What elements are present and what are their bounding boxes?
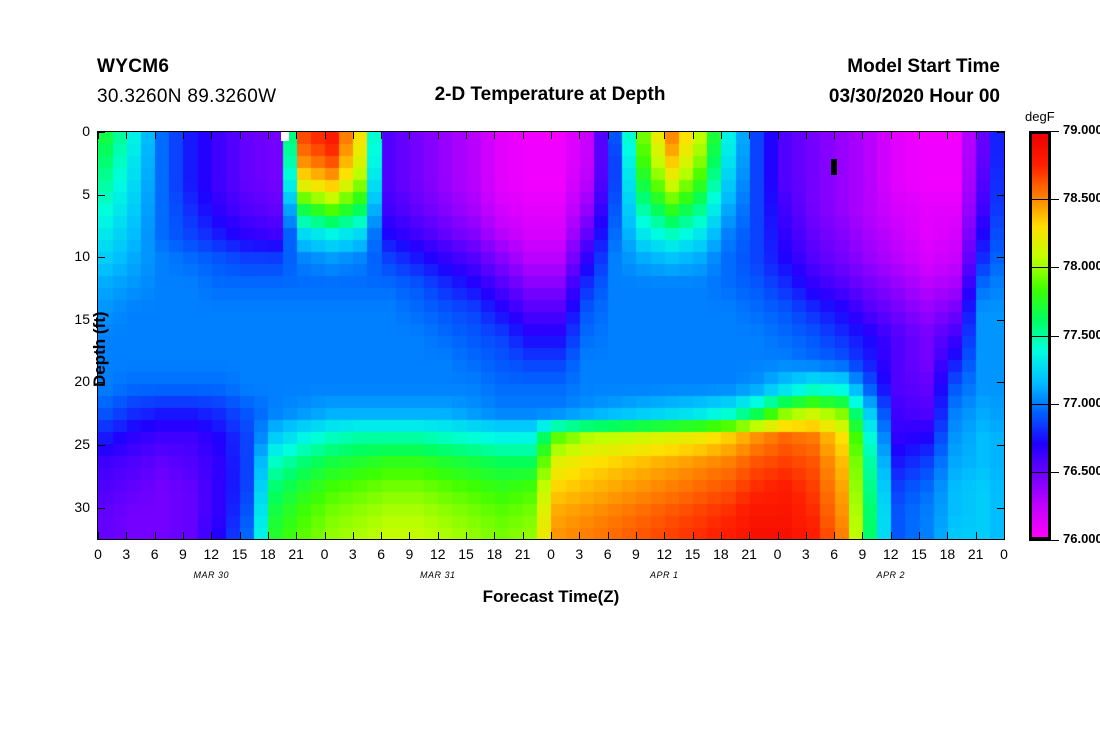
x-tick <box>919 132 920 139</box>
x-tick <box>721 532 722 539</box>
x-tick <box>976 532 977 539</box>
x-tick-label: 18 <box>706 546 736 562</box>
colorbar-tick-label: 79.000 <box>1063 122 1100 137</box>
colorbar-divider <box>1029 540 1051 541</box>
x-tick <box>296 532 297 539</box>
x-tick <box>862 132 863 139</box>
x-tick-label: 15 <box>451 546 481 562</box>
x-tick-label: 12 <box>423 546 453 562</box>
y-tick <box>997 508 1004 509</box>
colorbar-divider <box>1029 199 1051 200</box>
colorbar-divider <box>1029 336 1051 337</box>
x-tick <box>183 532 184 539</box>
y-tick <box>997 382 1004 383</box>
x-tick <box>98 132 99 139</box>
x-tick <box>353 532 354 539</box>
x-tick-label: 18 <box>479 546 509 562</box>
x-tick <box>155 132 156 139</box>
y-axis-title: Depth (ft) <box>90 311 110 387</box>
x-tick <box>862 532 863 539</box>
x-tick <box>778 532 779 539</box>
x-tick-label: 9 <box>847 546 877 562</box>
x-tick <box>211 132 212 139</box>
x-tick <box>211 532 212 539</box>
white-marker-icon <box>281 132 289 141</box>
x-tick <box>579 532 580 539</box>
x-tick-label: 21 <box>961 546 991 562</box>
x-tick <box>325 532 326 539</box>
y-tick <box>997 132 1004 133</box>
colorbar-tick-label: 78.000 <box>1063 258 1100 273</box>
x-tick <box>778 132 779 139</box>
y-tick-label: 5 <box>50 186 90 202</box>
colorbar-divider <box>1029 472 1051 473</box>
x-tick-label: 12 <box>876 546 906 562</box>
y-tick <box>98 508 105 509</box>
x-axis-title: Forecast Time(Z) <box>98 587 1004 607</box>
x-tick <box>438 132 439 139</box>
temperature-depth-heatmap-plot: 0369121518210369121518210369121518210369… <box>97 131 1005 540</box>
y-tick-label: 15 <box>50 311 90 327</box>
x-tick <box>834 132 835 139</box>
x-tick <box>126 132 127 139</box>
x-tick <box>551 132 552 139</box>
y-tick <box>98 132 105 133</box>
x-day-label: MAR 31 <box>398 570 478 580</box>
y-tick-label: 20 <box>50 373 90 389</box>
x-tick <box>608 132 609 139</box>
x-tick <box>608 532 609 539</box>
x-tick <box>1004 132 1005 139</box>
colorbar-tick-label: 76.500 <box>1063 463 1100 478</box>
x-tick <box>806 532 807 539</box>
y-tick-label: 0 <box>50 123 90 139</box>
x-tick <box>183 132 184 139</box>
x-tick <box>579 132 580 139</box>
colorbar-divider <box>1029 267 1051 268</box>
x-tick <box>891 532 892 539</box>
x-tick-label: 12 <box>649 546 679 562</box>
model-start-time-label: Model Start Time <box>847 56 1000 78</box>
colorbar-tick-label: 78.500 <box>1063 190 1100 205</box>
x-tick <box>409 132 410 139</box>
x-tick <box>240 532 241 539</box>
x-tick <box>891 132 892 139</box>
x-tick <box>523 132 524 139</box>
colorbar-tick <box>1051 540 1059 541</box>
x-tick-label: 21 <box>508 546 538 562</box>
colorbar-tick <box>1051 131 1059 132</box>
y-tick <box>997 320 1004 321</box>
x-tick-label: 12 <box>196 546 226 562</box>
model-start-time-value: 03/30/2020 Hour 00 <box>829 86 1000 108</box>
x-tick-label: 3 <box>111 546 141 562</box>
x-tick-label: 6 <box>140 546 170 562</box>
x-tick <box>438 532 439 539</box>
x-tick <box>664 132 665 139</box>
x-tick-label: 0 <box>989 546 1019 562</box>
x-tick-label: 6 <box>593 546 623 562</box>
x-tick <box>98 532 99 539</box>
x-tick-label: 0 <box>310 546 340 562</box>
x-tick <box>976 132 977 139</box>
x-tick <box>466 532 467 539</box>
x-tick-label: 15 <box>904 546 934 562</box>
x-tick <box>806 132 807 139</box>
y-tick <box>98 445 105 446</box>
y-tick <box>997 195 1004 196</box>
x-tick-label: 21 <box>734 546 764 562</box>
x-tick-label: 0 <box>536 546 566 562</box>
x-tick <box>494 532 495 539</box>
colorbar-tick-label: 76.000 <box>1063 531 1100 546</box>
x-tick <box>268 132 269 139</box>
colorbar-tick <box>1051 404 1059 405</box>
x-tick-label: 21 <box>281 546 311 562</box>
x-tick <box>551 532 552 539</box>
x-tick <box>268 532 269 539</box>
x-tick <box>1004 532 1005 539</box>
x-tick-label: 18 <box>253 546 283 562</box>
y-tick <box>98 257 105 258</box>
x-tick <box>466 132 467 139</box>
x-tick <box>636 132 637 139</box>
y-tick-label: 10 <box>50 248 90 264</box>
colorbar-tick <box>1051 267 1059 268</box>
x-tick <box>834 532 835 539</box>
x-tick-label: 3 <box>791 546 821 562</box>
x-tick-label: 9 <box>621 546 651 562</box>
heatmap-canvas <box>98 132 1004 539</box>
x-tick <box>693 532 694 539</box>
colorbar-tick <box>1051 336 1059 337</box>
station-name: WYCM6 <box>97 56 169 78</box>
black-marker-icon <box>831 159 837 175</box>
x-tick-label: 0 <box>83 546 113 562</box>
x-tick-label: 18 <box>932 546 962 562</box>
x-tick <box>721 132 722 139</box>
y-tick <box>98 195 105 196</box>
x-tick <box>749 532 750 539</box>
x-tick <box>636 532 637 539</box>
x-day-label: MAR 30 <box>171 570 251 580</box>
x-tick-label: 6 <box>819 546 849 562</box>
x-tick <box>947 132 948 139</box>
y-tick <box>997 445 1004 446</box>
colorbar-divider <box>1029 404 1051 405</box>
x-tick-label: 9 <box>394 546 424 562</box>
x-tick <box>381 132 382 139</box>
colorbar-tick-label: 77.500 <box>1063 327 1100 342</box>
x-tick <box>494 132 495 139</box>
y-tick-label: 25 <box>50 436 90 452</box>
x-tick-label: 6 <box>366 546 396 562</box>
x-tick <box>155 532 156 539</box>
x-tick <box>381 532 382 539</box>
x-tick-label: 15 <box>678 546 708 562</box>
colorbar-tick <box>1051 199 1059 200</box>
x-tick <box>664 532 665 539</box>
x-tick-label: 3 <box>338 546 368 562</box>
y-tick-label: 30 <box>50 499 90 515</box>
colorbar-tick <box>1051 472 1059 473</box>
colorbar-tick-label: 77.000 <box>1063 395 1100 410</box>
x-tick <box>919 532 920 539</box>
x-tick-label: 15 <box>225 546 255 562</box>
x-tick-label: 9 <box>168 546 198 562</box>
x-tick-label: 0 <box>763 546 793 562</box>
x-tick <box>693 132 694 139</box>
x-tick <box>353 132 354 139</box>
x-tick <box>325 132 326 139</box>
x-tick <box>296 132 297 139</box>
x-tick <box>240 132 241 139</box>
x-tick-label: 3 <box>564 546 594 562</box>
colorbar-title: degF <box>1025 109 1055 124</box>
x-day-label: APR 1 <box>624 570 704 580</box>
y-tick <box>997 257 1004 258</box>
x-day-label: APR 2 <box>851 570 931 580</box>
x-tick <box>947 532 948 539</box>
x-tick <box>409 532 410 539</box>
x-tick <box>749 132 750 139</box>
x-tick <box>523 532 524 539</box>
x-tick <box>126 532 127 539</box>
